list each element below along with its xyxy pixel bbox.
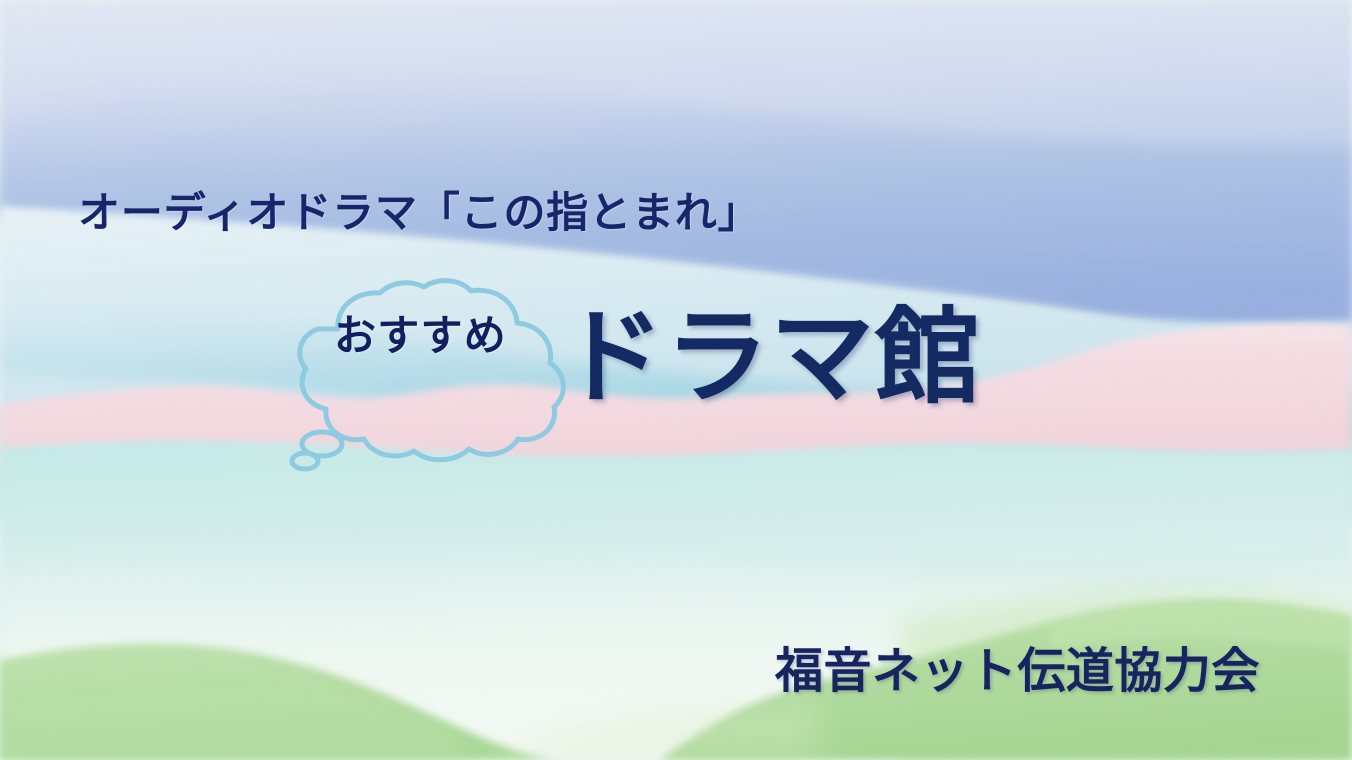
subtitle-top-text: オーディオドラマ「この指とまれ」: [78, 192, 761, 234]
thought-bubble-icon: [278, 281, 578, 476]
slide-canvas: オーディオドラマ「この指とまれ」 おすすめ ドラマ館 福音ネット伝道協力会: [0, 0, 1352, 760]
page-title: ドラマ館: [560, 306, 980, 410]
thought-bubble-label: おすすめ: [334, 315, 507, 357]
organization-name: 福音ネット伝道協力会: [775, 648, 1260, 696]
